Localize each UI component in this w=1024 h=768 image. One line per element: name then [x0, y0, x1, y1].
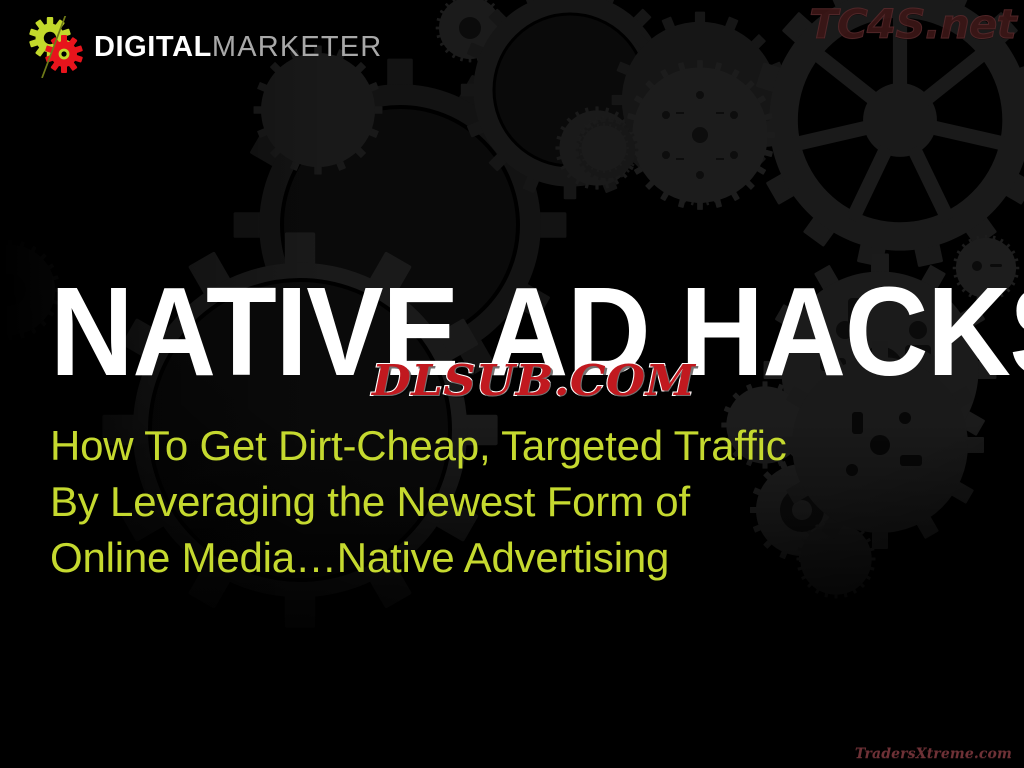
logo-word-digital: DIGITAL	[94, 31, 212, 63]
dlsub-watermark: DLSUB.COM	[372, 356, 696, 405]
subtitle-line-1: How To Get Dirt-Cheap, Targeted Traffic	[50, 418, 787, 474]
tc4s-watermark: TC4S.net	[809, 2, 1016, 48]
digitalmarketer-logo[interactable]: DIGITALMARKETER	[26, 16, 382, 78]
dlsub-watermark-text: DLSUB.COM	[372, 356, 696, 405]
logo-word-marketer: MARKETER	[212, 31, 382, 63]
logo-wordmark: DIGITALMARKETER	[94, 33, 382, 62]
tradersxtreme-watermark: TradersXtreme.com	[855, 746, 1012, 762]
slide-subtitle: How To Get Dirt-Cheap, Targeted Traffic …	[50, 418, 787, 586]
subtitle-line-2: By Leveraging the Newest Form of	[50, 474, 787, 530]
presentation-slide: DIGITALMARKETER TC4S.net NATIVE AD HACKS…	[0, 0, 1024, 768]
digitalmarketer-gears-logo-icon	[26, 16, 90, 78]
subtitle-line-3: Online Media…Native Advertising	[50, 530, 787, 586]
